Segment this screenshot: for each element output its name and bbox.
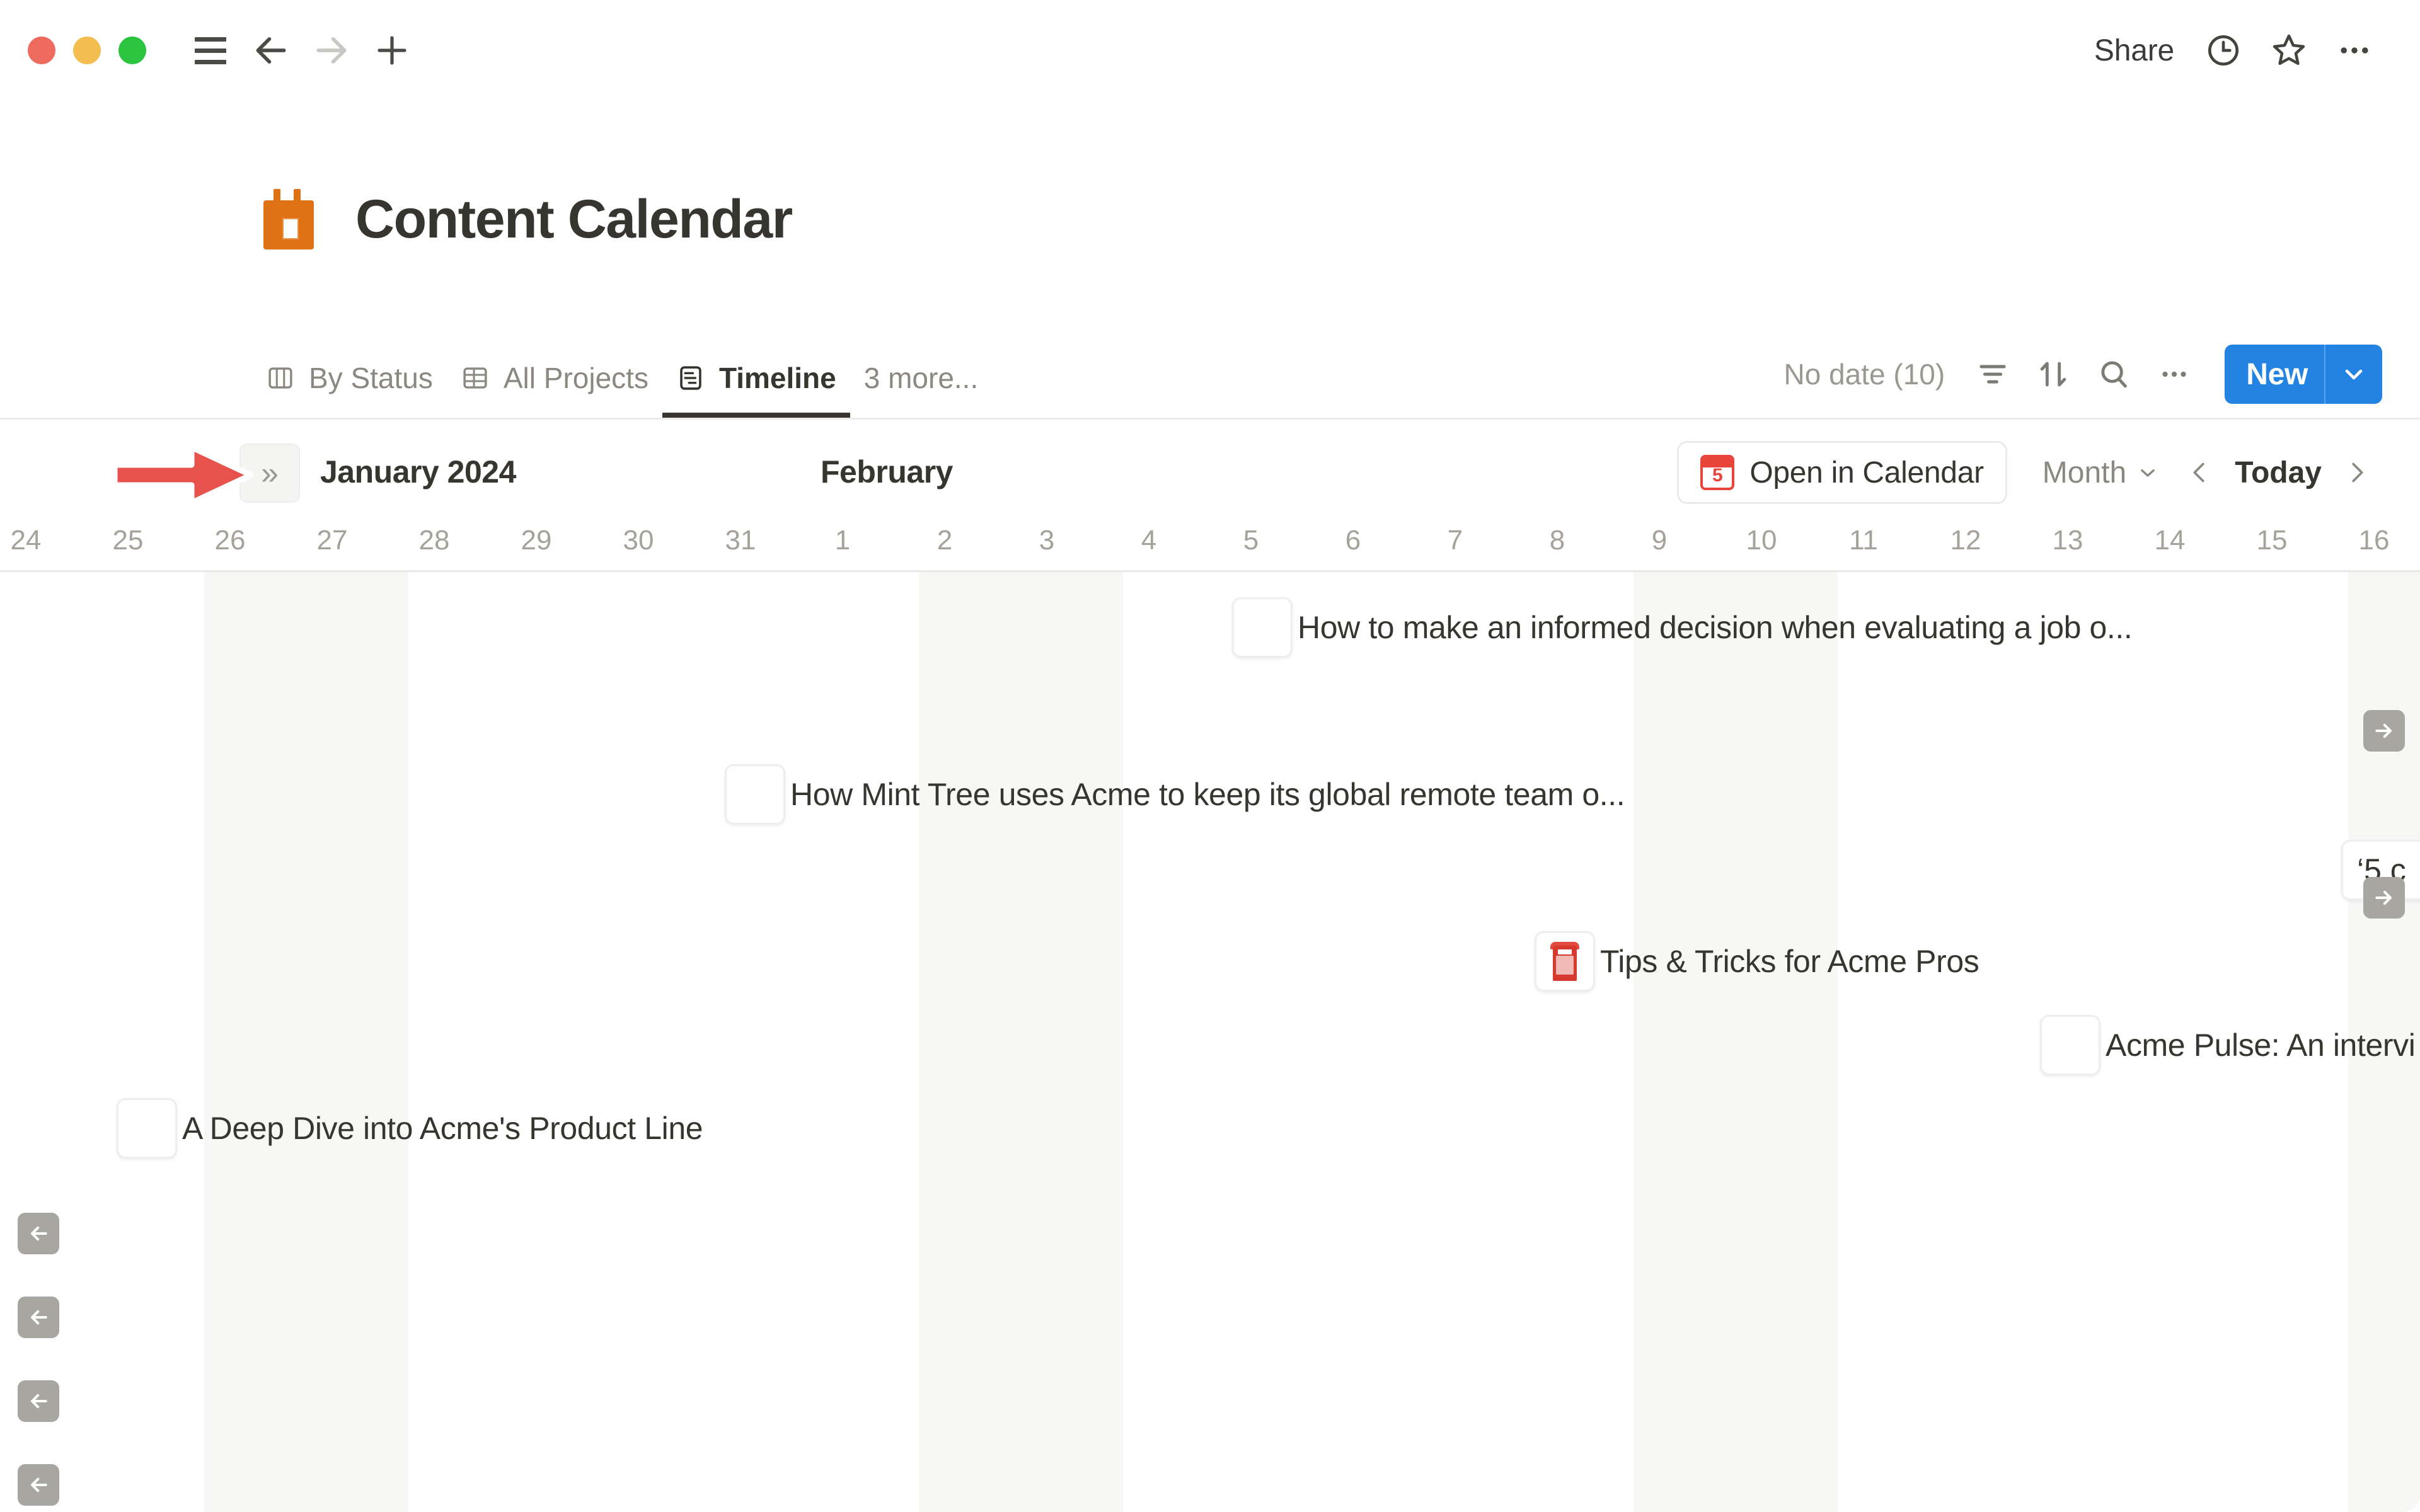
favorite-button[interactable] <box>2256 18 2322 83</box>
weekend-column-shade <box>919 572 1021 1512</box>
timeline-item-pill[interactable] <box>725 764 785 825</box>
overflow-left-badge[interactable] <box>18 1464 59 1506</box>
today-button[interactable]: Today <box>2225 455 2332 490</box>
clock-icon <box>2204 31 2243 70</box>
day-column-header: 8 <box>1506 510 1608 571</box>
plus-icon <box>373 31 411 69</box>
forward-arrow-icon <box>312 31 351 70</box>
view-tabs: By Status All Projects Timeline 3 more..… <box>252 355 992 418</box>
title-row: Content Calendar <box>258 189 2420 249</box>
day-column-header: 9 <box>1608 510 1710 571</box>
timeline-day-ruler: 242526272829303112345678910111213141516 <box>0 510 2420 572</box>
no-date-count[interactable]: No date (10) <box>1784 357 1945 391</box>
arrow-right-icon <box>2371 885 2397 910</box>
page-header: Content Calendar <box>0 189 2420 249</box>
timeline-icon <box>676 364 705 392</box>
timeline-item-title: Tips & Tricks for Acme Pros <box>1584 943 1979 980</box>
new-button-dropdown[interactable] <box>2325 359 2382 389</box>
day-column-header: 1 <box>792 510 894 571</box>
tab-more[interactable]: 3 more... <box>850 355 993 418</box>
sort-button[interactable] <box>2024 345 2082 403</box>
tab-label: Timeline <box>719 361 836 395</box>
tab-all-projects[interactable]: All Projects <box>447 355 662 418</box>
annotation-arrow <box>111 441 256 509</box>
tab-label: By Status <box>309 361 433 395</box>
titlebar-actions: Share <box>2078 0 2387 101</box>
chevron-left-icon <box>2185 458 2214 487</box>
view-more-button[interactable] <box>2145 345 2203 403</box>
timeline-item-title: How to make an informed decision when ev… <box>1281 609 2132 646</box>
view-tabbar: By Status All Projects Timeline 3 more..… <box>0 328 2420 420</box>
page-title[interactable]: Content Calendar <box>355 192 792 246</box>
table-icon <box>461 364 490 392</box>
nav-forward-button[interactable] <box>301 20 362 81</box>
day-column-header: 6 <box>1302 510 1404 571</box>
open-in-calendar-label: Open in Calendar <box>1749 455 1983 490</box>
new-tab-button[interactable] <box>362 20 422 81</box>
weekend-column-shade <box>204 572 306 1512</box>
timeline-item-pill[interactable] <box>1535 931 1595 992</box>
timeline-item-title: A Deep Dive into Acme's Product Line <box>166 1110 703 1147</box>
zoom-level-label: Month <box>2043 455 2126 490</box>
overflow-left-badge[interactable] <box>18 1297 59 1338</box>
minimize-window-button[interactable] <box>73 37 101 64</box>
day-column-header: 3 <box>996 510 1098 571</box>
view-toolbar: No date (10) <box>1784 345 2383 418</box>
calendar-app-icon: 5 <box>1700 455 1734 490</box>
star-icon <box>2269 30 2309 71</box>
share-button[interactable]: Share <box>2078 33 2191 68</box>
chevron-right-icon <box>2342 458 2371 487</box>
day-column-header: 4 <box>1098 510 1200 571</box>
chevron-down-icon <box>2339 359 2369 389</box>
titlebar-nav-group <box>180 20 422 81</box>
day-column-header: 13 <box>2017 510 2119 571</box>
back-arrow-icon <box>251 31 291 70</box>
telephone-box-icon <box>1549 941 1581 982</box>
day-column-header: 31 <box>689 510 792 571</box>
day-column-header: 16 <box>2323 510 2420 571</box>
search-icon <box>2095 356 2132 392</box>
day-column-header: 14 <box>2119 510 2221 571</box>
day-column-header: 30 <box>587 510 689 571</box>
weekend-column-shade <box>1633 572 1736 1512</box>
hamburger-icon <box>195 37 226 64</box>
chevron-down-icon <box>2135 460 2160 485</box>
weekend-column-shade <box>1021 572 1123 1512</box>
spiral-calendar-icon[interactable] <box>258 189 319 249</box>
day-column-header: 28 <box>383 510 485 571</box>
timeline-grid[interactable]: How to make an informed decision when ev… <box>0 572 2420 1512</box>
filter-icon <box>1974 356 2011 392</box>
timeline-controls: 5 Open in Calendar Month Today <box>1677 435 2382 510</box>
day-column-header: 29 <box>485 510 587 571</box>
arrow-right-icon <box>2371 718 2397 743</box>
filter-button[interactable] <box>1964 345 2022 403</box>
page-history-button[interactable] <box>2191 18 2256 83</box>
overflow-right-badge[interactable] <box>2363 877 2405 919</box>
month-label-january: January 2024 <box>320 454 516 490</box>
tab-more-label: 3 more... <box>864 361 979 395</box>
day-column-header: 24 <box>0 510 77 571</box>
search-button[interactable] <box>2085 345 2143 403</box>
timeline-item[interactable]: Tips & Tricks for Acme Pros <box>1535 931 1979 992</box>
timeline-item[interactable]: A Deep Dive into Acme's Product Line <box>117 1098 703 1159</box>
tab-timeline[interactable]: Timeline <box>662 355 850 418</box>
overflow-left-badge[interactable] <box>18 1380 59 1422</box>
zoom-level-dropdown[interactable]: Month <box>2029 455 2174 490</box>
day-column-header: 15 <box>2221 510 2323 571</box>
next-period-button[interactable] <box>2332 444 2382 501</box>
timeline-item-pill[interactable] <box>2040 1015 2100 1075</box>
overflow-left-badge[interactable] <box>18 1213 59 1254</box>
new-button-label: New <box>2225 357 2324 392</box>
weekend-column-shade <box>306 572 408 1512</box>
timeline-toolbar: » January 2024 February 5 Open in Calend… <box>0 435 2420 510</box>
day-column-header: 27 <box>281 510 383 571</box>
previous-period-button[interactable] <box>2174 444 2225 501</box>
arrow-left-icon <box>26 1389 51 1414</box>
arrow-left-icon <box>26 1221 51 1246</box>
timeline-item-title: How Mint Tree uses Acme to keep its glob… <box>774 776 1625 813</box>
day-column-header: 2 <box>894 510 996 571</box>
calendar-icon-day: 5 <box>1712 466 1723 488</box>
month-label-february: February <box>821 454 953 490</box>
sort-icon <box>2035 356 2071 392</box>
weekend-column-shade <box>1736 572 1838 1512</box>
day-column-header: 7 <box>1404 510 1506 571</box>
ellipsis-icon <box>2156 356 2192 392</box>
sidebar-toggle-button[interactable] <box>180 20 241 81</box>
window-titlebar: Share <box>0 0 2420 101</box>
day-column-header: 12 <box>1915 510 2017 571</box>
arrow-left-icon <box>26 1305 51 1330</box>
open-in-calendar-button[interactable]: 5 Open in Calendar <box>1677 441 2007 504</box>
day-column-header: 11 <box>1812 510 1915 571</box>
arrow-left-icon <box>26 1472 51 1498</box>
tab-by-status[interactable]: By Status <box>252 355 447 418</box>
board-icon <box>266 364 295 392</box>
timeline-item[interactable]: Acme Pulse: An intervi <box>2040 1015 2415 1075</box>
ellipsis-icon <box>2335 31 2374 70</box>
notion-window: Share <box>0 0 2420 1512</box>
page-more-menu-button[interactable] <box>2322 18 2387 83</box>
maximize-window-button[interactable] <box>118 37 146 64</box>
window-traffic-lights <box>28 37 146 64</box>
nav-back-button[interactable] <box>241 20 301 81</box>
overflow-right-badge[interactable] <box>2363 710 2405 752</box>
day-column-header: 26 <box>179 510 281 571</box>
timeline-item-title: Acme Pulse: An intervi <box>2089 1027 2415 1063</box>
new-button[interactable]: New <box>2225 345 2382 404</box>
timeline-item-pill[interactable] <box>117 1098 177 1159</box>
close-window-button[interactable] <box>28 37 55 64</box>
day-column-header: 5 <box>1200 510 1302 571</box>
day-column-header: 25 <box>77 510 179 571</box>
timeline-item[interactable]: How to make an informed decision when ev… <box>1232 597 2132 658</box>
day-column-header: 10 <box>1710 510 1812 571</box>
timeline-item[interactable]: How Mint Tree uses Acme to keep its glob… <box>725 764 1625 825</box>
timeline-item-pill[interactable] <box>1232 597 1293 658</box>
tab-label: All Projects <box>504 361 648 395</box>
